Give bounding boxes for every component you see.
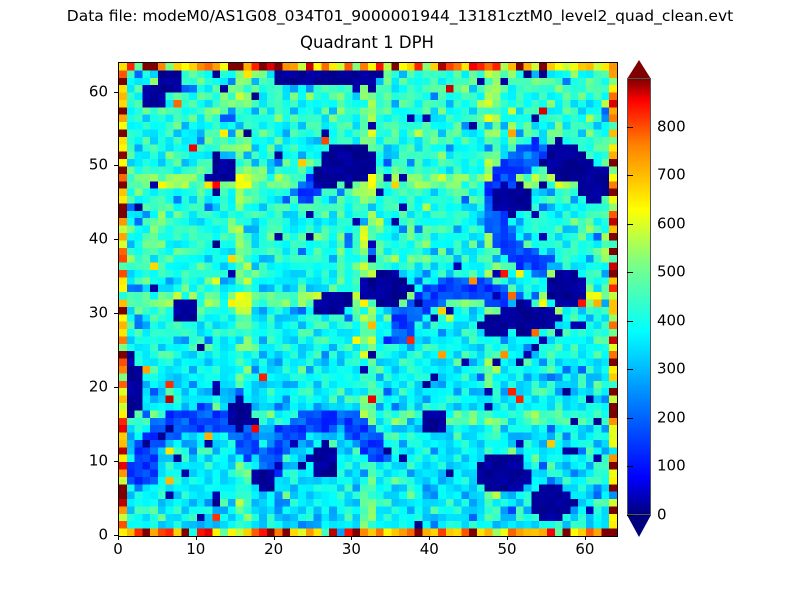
y-tick-label: 30 [62, 305, 108, 322]
colorbar-tick-label: 0 [657, 507, 667, 524]
colorbar-tick [627, 369, 633, 370]
colorbar-tick-label: 600 [657, 215, 686, 232]
x-tick-label: 0 [113, 541, 123, 558]
colorbar-tick-label: 800 [657, 118, 686, 135]
y-tick [114, 387, 118, 388]
colorbar-tick [627, 272, 633, 273]
y-tick [114, 165, 118, 166]
page-title: Quadrant 1 DPH [118, 33, 616, 52]
y-tick [114, 239, 118, 240]
colorbar-tick [627, 515, 633, 516]
x-tick-label: 10 [186, 541, 205, 558]
data-file-suptitle: Data file: modeM0/AS1G08_034T01_90000019… [0, 7, 800, 25]
colorbar-tick-label: 200 [657, 409, 686, 426]
y-tick-label: 40 [62, 231, 108, 248]
colorbar-under-arrow [627, 515, 651, 537]
colorbar-tick [627, 224, 633, 225]
x-tick-label: 30 [342, 541, 361, 558]
colorbar-tick-label: 400 [657, 312, 686, 329]
colorbar-tick [627, 418, 633, 419]
y-tick-label: 10 [62, 453, 108, 470]
colorbar-tick-label: 100 [657, 458, 686, 475]
colorbar-tick-label: 300 [657, 361, 686, 378]
y-tick [114, 313, 118, 314]
colorbar-tick [627, 127, 633, 128]
colorbar-tick [627, 175, 633, 176]
colorbar-tick [627, 321, 633, 322]
y-tick [114, 92, 118, 93]
y-tick [114, 461, 118, 462]
y-tick-label: 60 [62, 83, 108, 100]
y-tick-label: 0 [62, 527, 108, 544]
x-tick-label: 50 [498, 541, 517, 558]
x-tick-label: 40 [420, 541, 439, 558]
detector-plane-heatmap[interactable] [119, 63, 617, 536]
colorbar-tick-label: 500 [657, 264, 686, 281]
colorbar-tick [627, 466, 633, 467]
colorbar-tick-label: 700 [657, 167, 686, 184]
figure-canvas: Data file: modeM0/AS1G08_034T01_90000019… [0, 0, 800, 600]
x-tick-label: 60 [575, 541, 594, 558]
y-tick-label: 50 [62, 157, 108, 174]
colorbar-over-arrow [627, 60, 651, 79]
heatmap-axes[interactable] [118, 62, 618, 537]
x-tick-label: 20 [264, 541, 283, 558]
colorbar-gradient[interactable] [627, 78, 651, 515]
y-tick [114, 535, 118, 536]
y-tick-label: 20 [62, 379, 108, 396]
